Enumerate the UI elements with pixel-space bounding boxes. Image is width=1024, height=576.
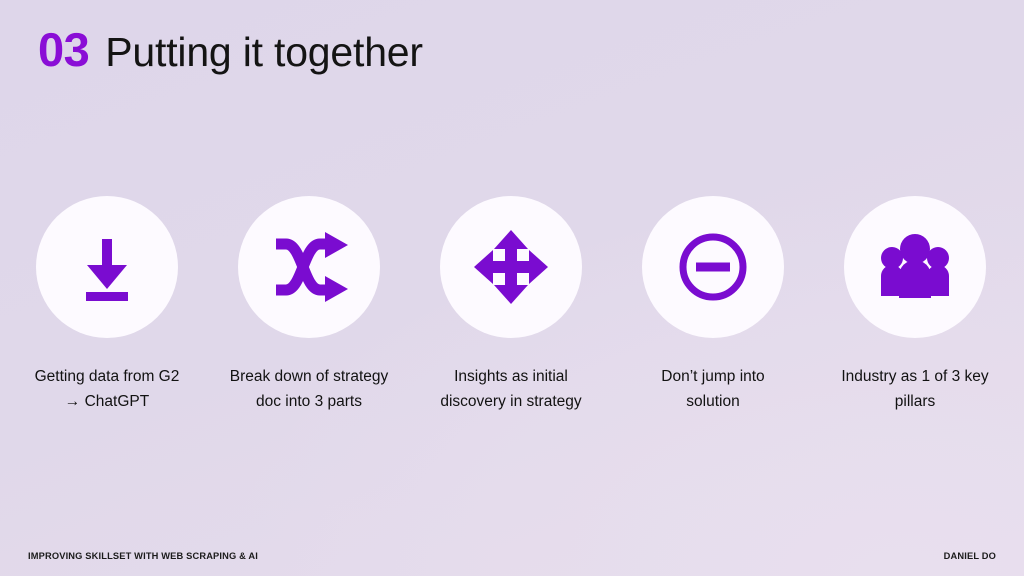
slide-title-text: Putting it together	[105, 29, 423, 76]
shuffle-icon	[270, 230, 348, 304]
list-item-caption: Industry as 1 of 3 key pillars	[835, 364, 995, 414]
page-title: 03 Putting it together	[38, 22, 423, 77]
slide-number: 03	[38, 22, 89, 77]
list-item: Industry as 1 of 3 key pillars	[844, 196, 986, 414]
list-item: Getting data from G2 → ChatGPT	[36, 196, 178, 414]
icon-items-row: Getting data from G2 → ChatGPT Break dow…	[0, 196, 1024, 414]
list-item: Don’t jump into solution	[642, 196, 784, 414]
download-icon	[69, 229, 145, 305]
footer-right-text: DANIEL DO	[944, 551, 996, 561]
move-arrows-icon	[472, 228, 550, 306]
footer-left-text: IMPROVING SKILLSET WITH WEB SCRAPING & A…	[28, 551, 258, 561]
icon-circle-download	[36, 196, 178, 338]
list-item-caption: Insights as initial discovery in strateg…	[431, 364, 591, 414]
icon-circle-people	[844, 196, 986, 338]
list-item-caption: Getting data from G2 → ChatGPT	[27, 364, 187, 414]
list-item-caption: Break down of strategy doc into 3 parts	[229, 364, 389, 414]
minus-circle-icon	[676, 230, 750, 304]
icon-circle-minus	[642, 196, 784, 338]
icon-circle-shuffle	[238, 196, 380, 338]
list-item: Insights as initial discovery in strateg…	[440, 196, 582, 414]
list-item-caption: Don’t jump into solution	[633, 364, 793, 414]
slide-footer: IMPROVING SKILLSET WITH WEB SCRAPING & A…	[0, 551, 1024, 561]
people-group-icon	[878, 232, 952, 302]
list-item: Break down of strategy doc into 3 parts	[238, 196, 380, 414]
icon-circle-move	[440, 196, 582, 338]
